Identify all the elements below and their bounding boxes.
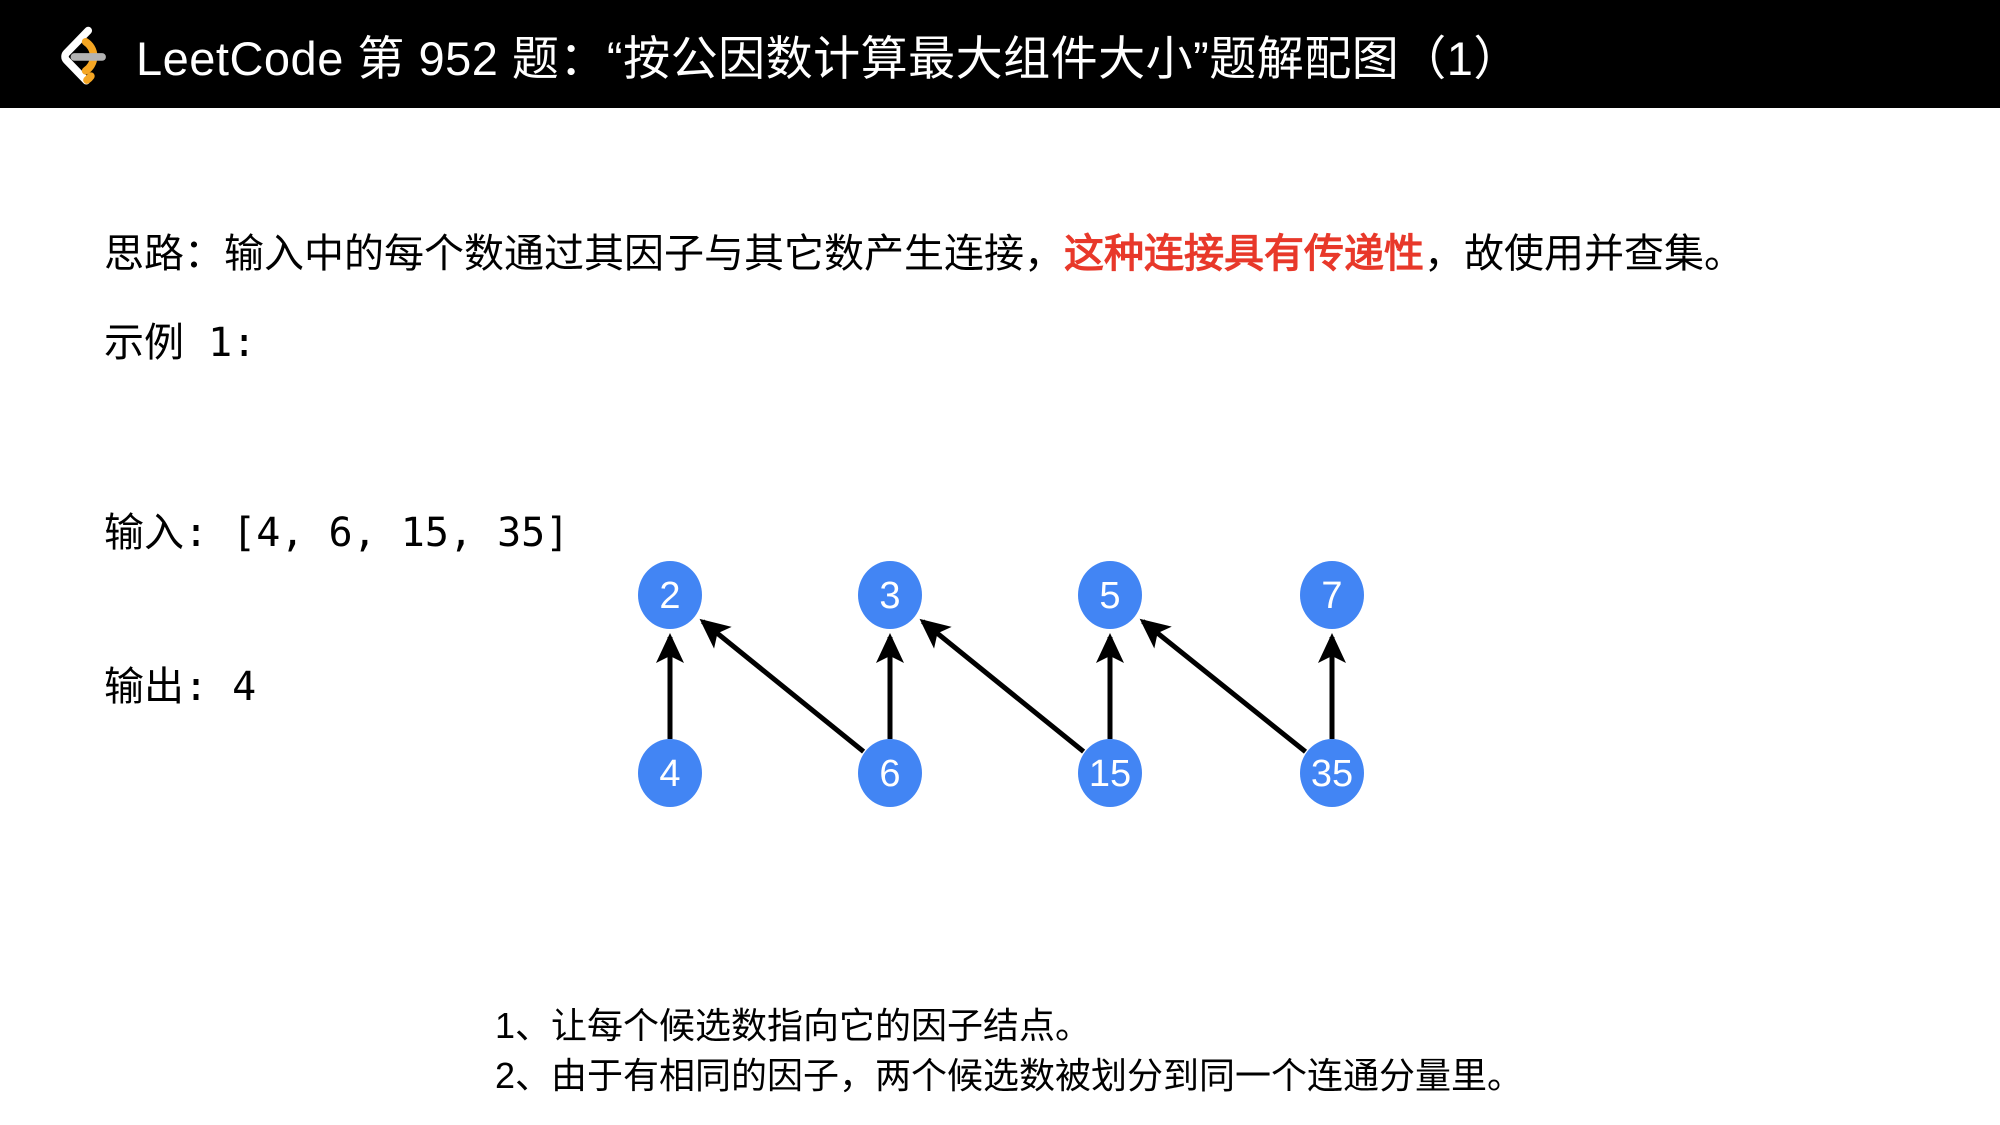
example-io-block: 输入: [4, 6, 15, 35] 输出: 4 — [104, 406, 569, 816]
app-header: LeetCode 第 952 题：“按公因数计算最大组件大小”题解配图（1） — [0, 0, 2000, 108]
example-label: 示例 1: — [104, 310, 256, 368]
note-item-1: 1、让每个候选数指向它的因子结点。 — [495, 1001, 1523, 1051]
leetcode-logo-icon — [48, 22, 114, 88]
page-title: LeetCode 第 952 题：“按公因数计算最大组件大小”题解配图（1） — [136, 20, 1521, 89]
explanation-notes: 1、让每个候选数指向它的因子结点。 2、由于有相同的因子，两个候选数被划分到同一… — [495, 1001, 1523, 1100]
slide-body: 思路：输入中的每个数通过其因子与其它数产生连接，这种连接具有传递性，故使用并查集… — [0, 108, 2000, 1125]
example-output-line: 输出: 4 — [104, 662, 569, 713]
idea-statement: 思路：输入中的每个数通过其因子与其它数产生连接，这种连接具有传递性，故使用并查集… — [104, 227, 1744, 281]
idea-highlight: 这种连接具有传递性 — [1064, 232, 1424, 276]
idea-suffix: ，故使用并查集。 — [1424, 232, 1744, 276]
example-input-line: 输入: [4, 6, 15, 35] — [104, 508, 569, 559]
note-item-2: 2、由于有相同的因子，两个候选数被划分到同一个连通分量里。 — [495, 1051, 1523, 1101]
idea-prefix: 思路：输入中的每个数通过其因子与其它数产生连接， — [104, 232, 1064, 276]
